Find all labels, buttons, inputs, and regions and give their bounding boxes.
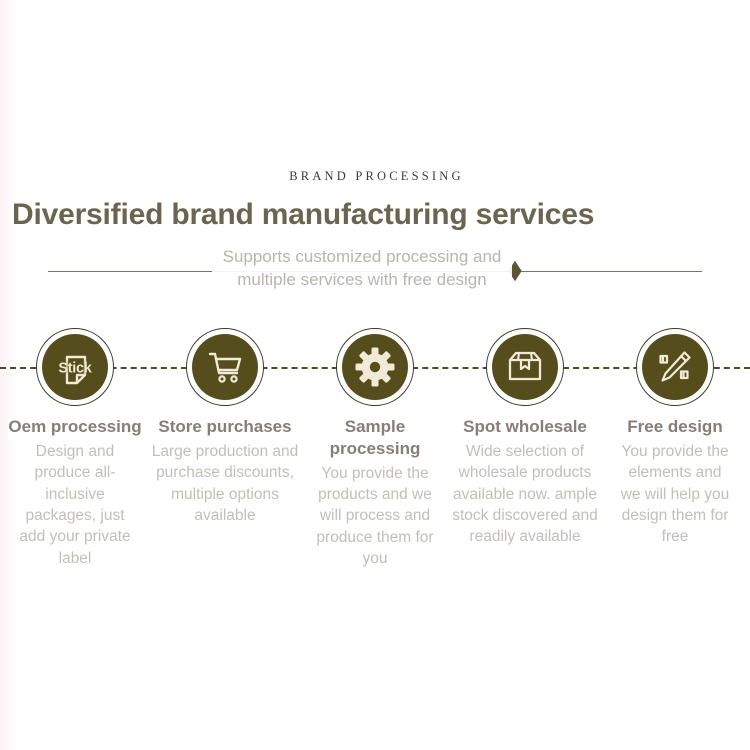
card-description: You provide the elements and we will hel…: [619, 441, 731, 548]
subtitle-text: Supports customized processing and multi…: [212, 244, 512, 294]
sticker-icon-label: Stick: [42, 360, 108, 376]
card-title: Free design: [627, 416, 722, 438]
feature-cards: Stick Oem processing Design and produce …: [0, 328, 750, 569]
card-description: Design and produce all-inclusive package…: [11, 441, 139, 569]
eyebrow-text: BRAND PROCESSING: [0, 170, 750, 183]
feature-card-sample-processing[interactable]: Sample processing You provide the produc…: [300, 328, 450, 569]
package-box-icon: [492, 334, 558, 400]
card-description: Wide selection of wholesale products ava…: [450, 441, 600, 548]
gear-icon: [342, 334, 408, 400]
icon-ring: [336, 328, 414, 406]
card-title: Sample processing: [308, 416, 443, 460]
icon-ring: [486, 328, 564, 406]
pencil-design-icon: [642, 334, 708, 400]
card-description: Large production and purchase discounts,…: [150, 441, 300, 527]
card-description: You provide the products and we will pro…: [307, 463, 443, 570]
shopping-cart-icon: [192, 334, 258, 400]
page-title: Diversified brand manufacturing services: [0, 199, 750, 231]
page-root: BRAND PROCESSING Diversified brand manuf…: [0, 0, 750, 750]
feature-card-store-purchases[interactable]: Store purchases Large production and pur…: [150, 328, 300, 526]
icon-ring: Stick: [36, 328, 114, 406]
icon-ring: [186, 328, 264, 406]
card-title: Oem processing: [8, 416, 141, 438]
header-section: BRAND PROCESSING Diversified brand manuf…: [0, 170, 750, 230]
feature-card-oem-processing[interactable]: Stick Oem processing Design and produce …: [0, 328, 150, 569]
card-title: Store purchases: [158, 416, 291, 438]
feature-card-spot-wholesale[interactable]: Spot wholesale Wide selection of wholesa…: [450, 328, 600, 548]
card-title: Spot wholesale: [463, 416, 587, 438]
icon-ring: [636, 328, 714, 406]
feature-card-free-design[interactable]: Free design You provide the elements and…: [600, 328, 750, 548]
sticker-label-icon: Stick: [42, 334, 108, 400]
